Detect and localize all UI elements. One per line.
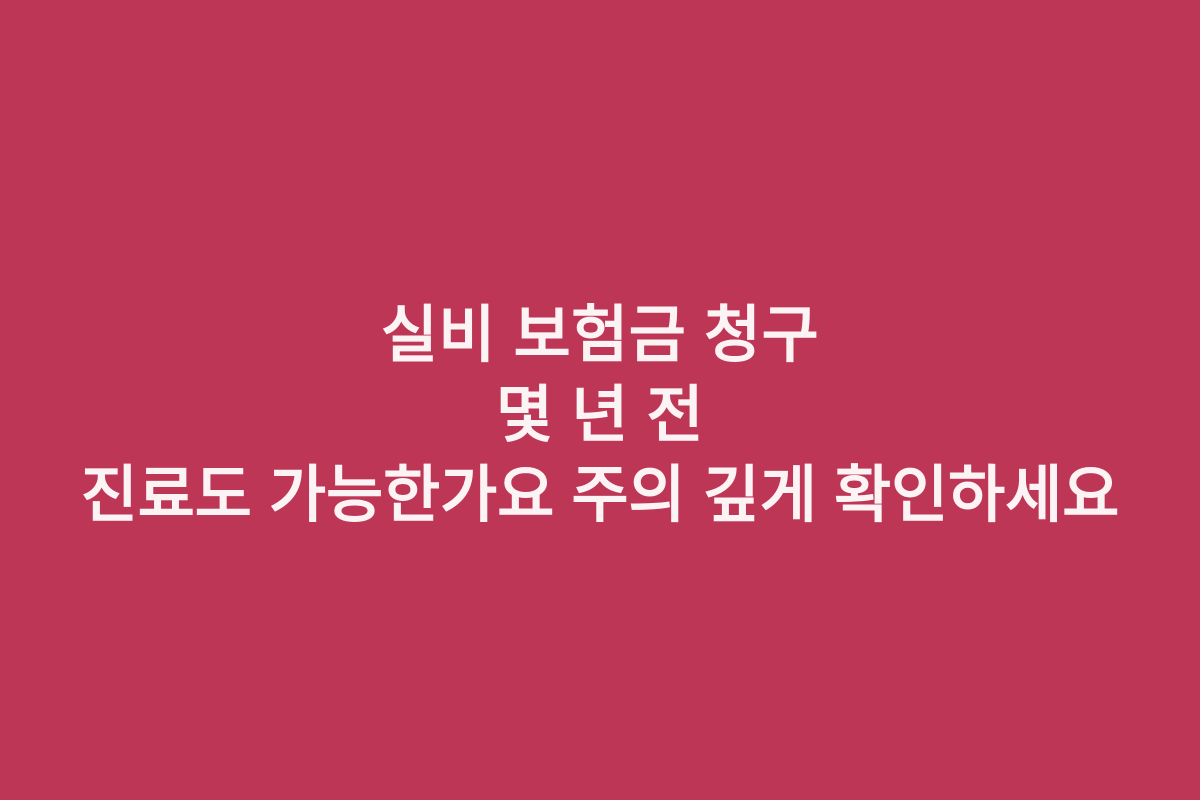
thumbnail-card: 실비 보험금 청구 몇 년 전 진료도 가능한가요 주의 깊게 확인하세요	[0, 0, 1200, 800]
headline-line-2: 몇 년 전	[12, 376, 1188, 456]
headline-block: 실비 보험금 청구 몇 년 전 진료도 가능한가요 주의 깊게 확인하세요	[0, 296, 1200, 536]
headline-line-3: 진료도 가능한가요 주의 깊게 확인하세요	[12, 456, 1188, 536]
headline-line-1: 실비 보험금 청구	[12, 296, 1188, 376]
